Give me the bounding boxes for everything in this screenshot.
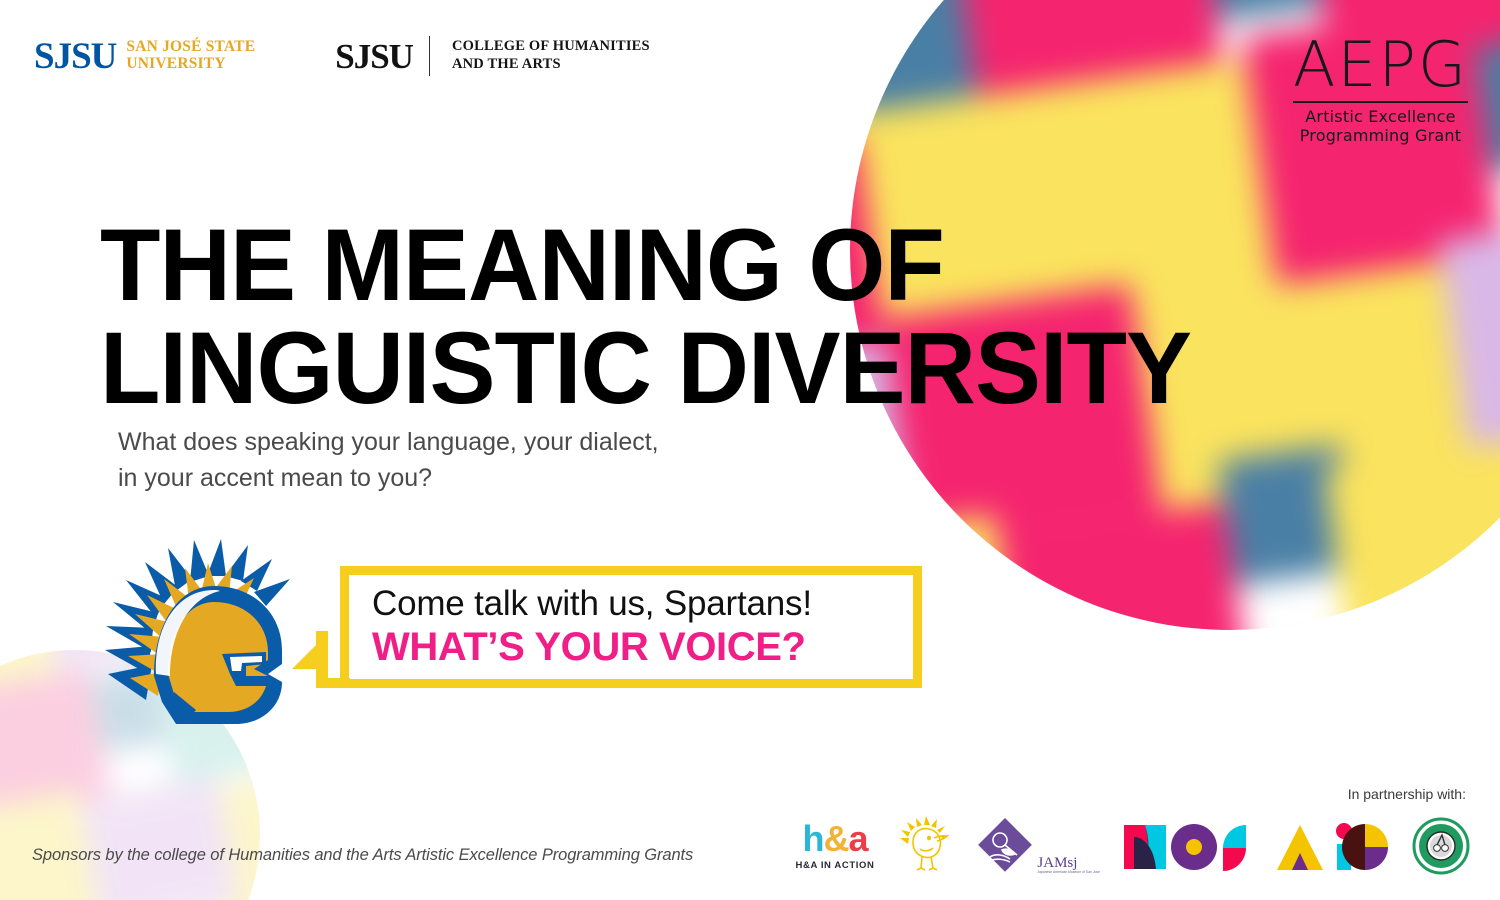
sjsu-university-name: San José State University bbox=[126, 39, 255, 72]
subtitle-line-1: What does speaking your language, your d… bbox=[118, 425, 659, 461]
bubble-question-text: WHAT’S YOUR VOICE? bbox=[372, 625, 922, 669]
sjsu-university-logo: SJSU San José State University bbox=[34, 38, 255, 75]
header-logos: SJSU San José State University SJSU Coll… bbox=[34, 36, 650, 76]
title-line-2: LINGUISTIC DIVERSITY bbox=[100, 321, 1191, 416]
jamsj-wordmark: JAMsj bbox=[1037, 856, 1077, 871]
page-title: THE MEANING OF LINGUISTIC DIVERSITY bbox=[100, 218, 1225, 416]
title-line-1: THE MEANING OF bbox=[100, 218, 1191, 313]
partner-logo-row: h&a H&A IN ACTION bbox=[796, 806, 1470, 886]
bubble-invite-text: Come talk with us, Spartans! bbox=[372, 585, 922, 623]
college-name-line2: and the Arts bbox=[452, 56, 650, 74]
logo-school-of-visual-philosophy bbox=[1412, 817, 1470, 875]
ha-tagline: H&A IN ACTION bbox=[796, 860, 875, 871]
aepg-acronym: AEPG bbox=[1293, 36, 1468, 95]
college-name: College of Humanities and the Arts bbox=[452, 38, 650, 73]
sjsu-name-line2: University bbox=[126, 56, 255, 73]
mosaic-wordmark bbox=[1122, 817, 1390, 875]
sjsu-name-line1: San José State bbox=[126, 39, 255, 56]
aepg-rule bbox=[1293, 101, 1468, 103]
partnership-label: In partnership with: bbox=[1348, 786, 1466, 802]
logo-mosaic bbox=[1122, 817, 1390, 875]
sjsu-college-wordmark: SJSU bbox=[335, 39, 413, 74]
logo-divider bbox=[429, 36, 430, 76]
speech-bubble: Come talk with us, Spartans! WHAT’S YOUR… bbox=[340, 566, 922, 688]
sjsu-wordmark: SJSU bbox=[34, 38, 116, 75]
spartan-helmet-icon bbox=[96, 524, 316, 736]
ha-wordmark: h&a bbox=[802, 821, 867, 857]
logo-yellow-chick bbox=[896, 816, 954, 876]
sponsors-note: Sponsors by the college of Humanities an… bbox=[32, 846, 693, 865]
college-name-line1: College of Humanities bbox=[452, 38, 650, 56]
poster-canvas: SJSU San José State University SJSU Coll… bbox=[0, 0, 1500, 900]
logo-h-and-a-in-action: h&a H&A IN ACTION bbox=[796, 821, 875, 871]
aepg-badge: AEPG Artistic Excellence Programming Gra… bbox=[1293, 36, 1468, 145]
aepg-subtitle-line2: Programming Grant bbox=[1293, 127, 1468, 146]
subtitle: What does speaking your language, your d… bbox=[118, 425, 659, 496]
aepg-subtitle-line1: Artistic Excellence bbox=[1293, 108, 1468, 127]
speech-bubble-content: Come talk with us, Spartans! WHAT’S YOUR… bbox=[340, 566, 922, 688]
jamsj-tagline: Japanese American Museum of San Jose bbox=[1037, 871, 1100, 875]
aepg-subtitle: Artistic Excellence Programming Grant bbox=[1293, 108, 1468, 145]
subtitle-line-2: in your accent mean to you? bbox=[118, 461, 659, 497]
sjsu-college-logo: SJSU College of Humanities and the Arts bbox=[335, 36, 650, 76]
logo-jamsj: JAMsj Japanese American Museum of San Jo… bbox=[976, 817, 1100, 875]
